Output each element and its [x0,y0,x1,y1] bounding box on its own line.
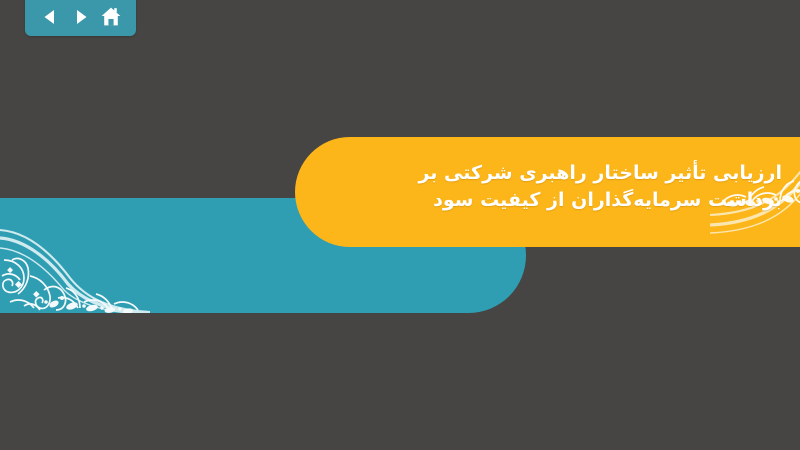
next-button[interactable] [68,5,94,29]
arabesque-ornament [0,198,150,313]
home-button[interactable] [98,5,124,29]
home-icon [100,6,122,28]
title-line-1: ارزیابی تأثیر ساختار راهبری شرکتی بر [352,160,782,187]
previous-button[interactable] [37,5,63,29]
triangle-left-icon [41,8,59,26]
triangle-right-icon [72,8,90,26]
title-line-2: برداشت سرمایه‌گذاران از کیفیت سود [352,187,782,214]
slide-title: ارزیابی تأثیر ساختار راهبری شرکتی بر برد… [352,160,782,214]
presentation-slide: ارزیابی تأثیر ساختار راهبری شرکتی بر برد… [0,0,800,450]
navigation-bar [25,0,136,36]
